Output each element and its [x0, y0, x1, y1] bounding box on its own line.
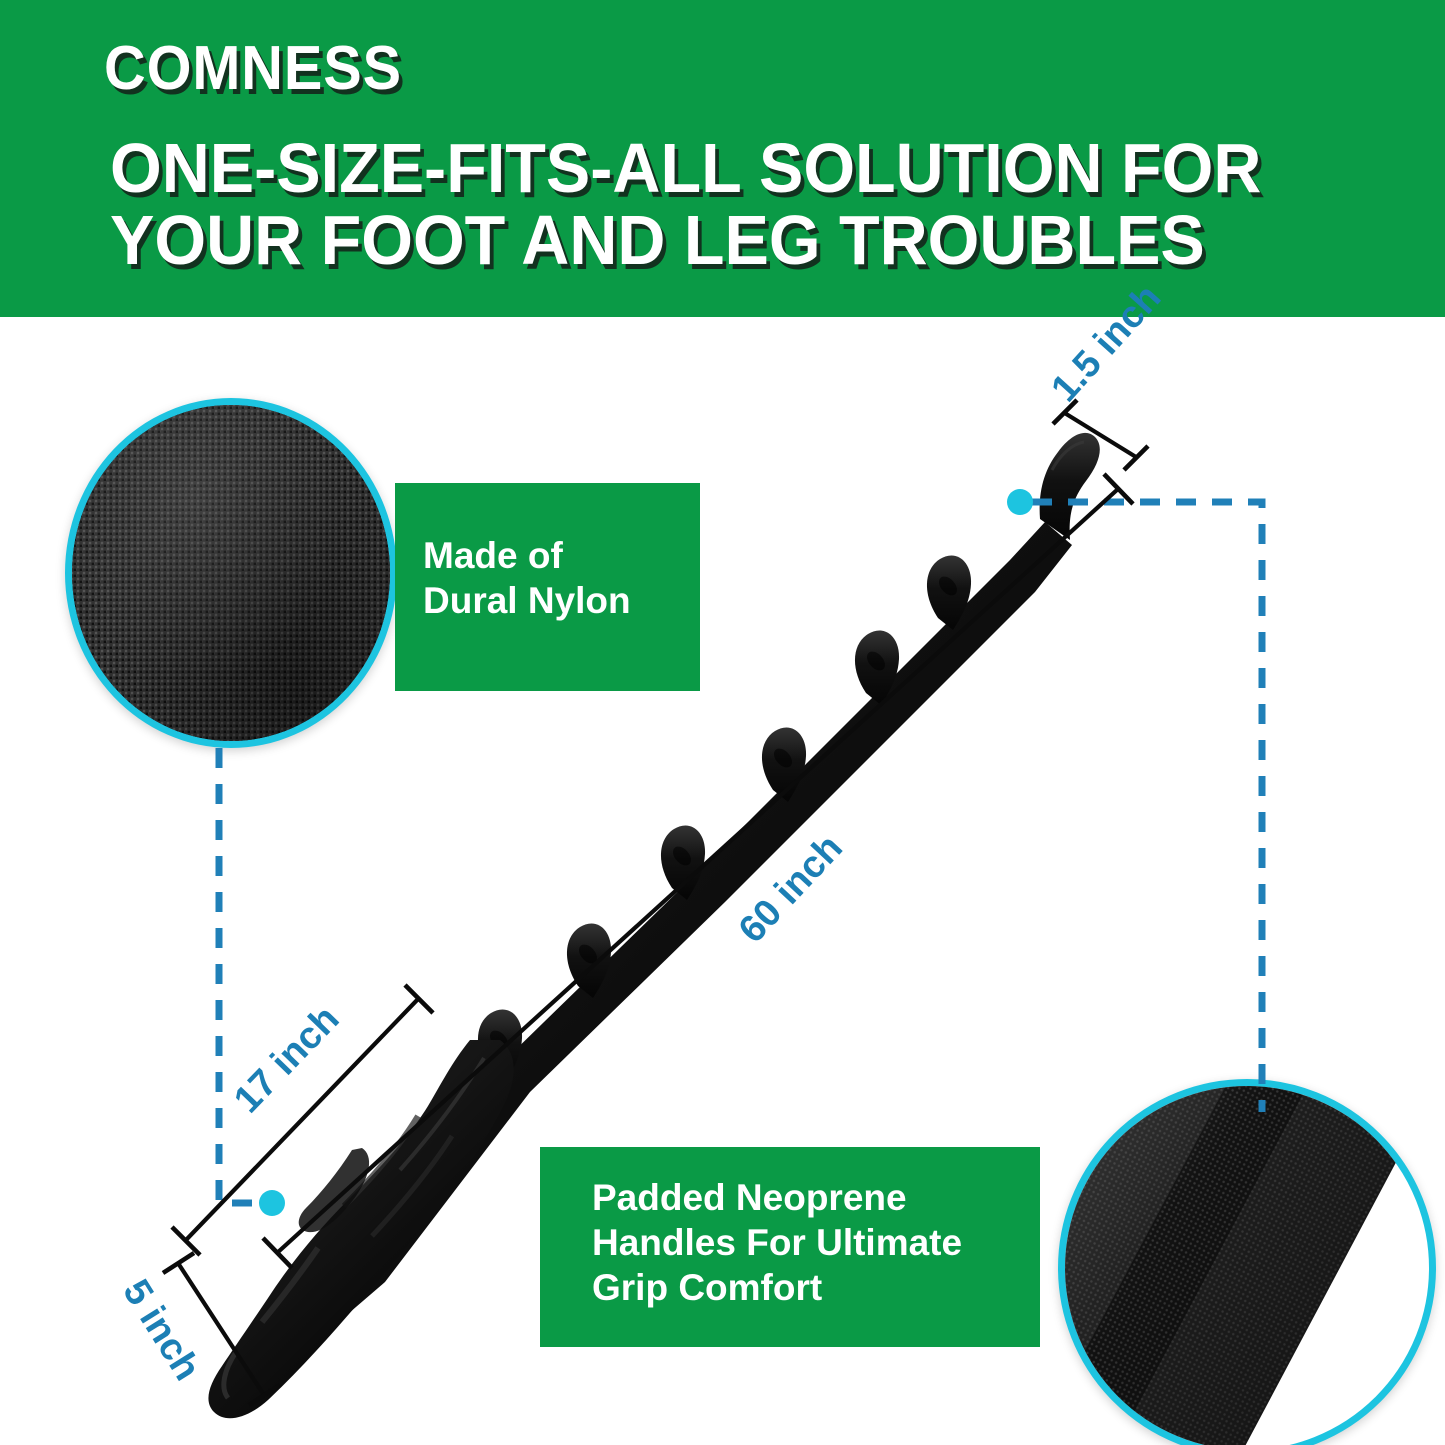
dimension-foot-cradle-length: 17 inch — [172, 985, 433, 1255]
dimension-label-1-5-inch: 1.5 inch — [1043, 277, 1169, 410]
anchor-dot-tip — [1007, 489, 1033, 515]
dimension-overlay: 1.5 inch 60 inch 17 inch 5 inch — [0, 0, 1445, 1445]
dimension-total-length: 60 inch — [263, 474, 1133, 1268]
dimension-top-loop-width: 1.5 inch — [1043, 277, 1169, 470]
infographic-canvas: COMNESS ONE-SIZE-FITS-ALL SOLUTION FOR Y… — [0, 0, 1445, 1445]
anchor-dot-foot — [259, 1190, 285, 1216]
dimension-label-60-inch: 60 inch — [731, 827, 851, 951]
dimension-label-17-inch: 17 inch — [226, 998, 347, 1121]
dimension-foot-cradle-width: 5 inch — [114, 1253, 280, 1405]
leader-handle-circle — [1007, 489, 1262, 1112]
